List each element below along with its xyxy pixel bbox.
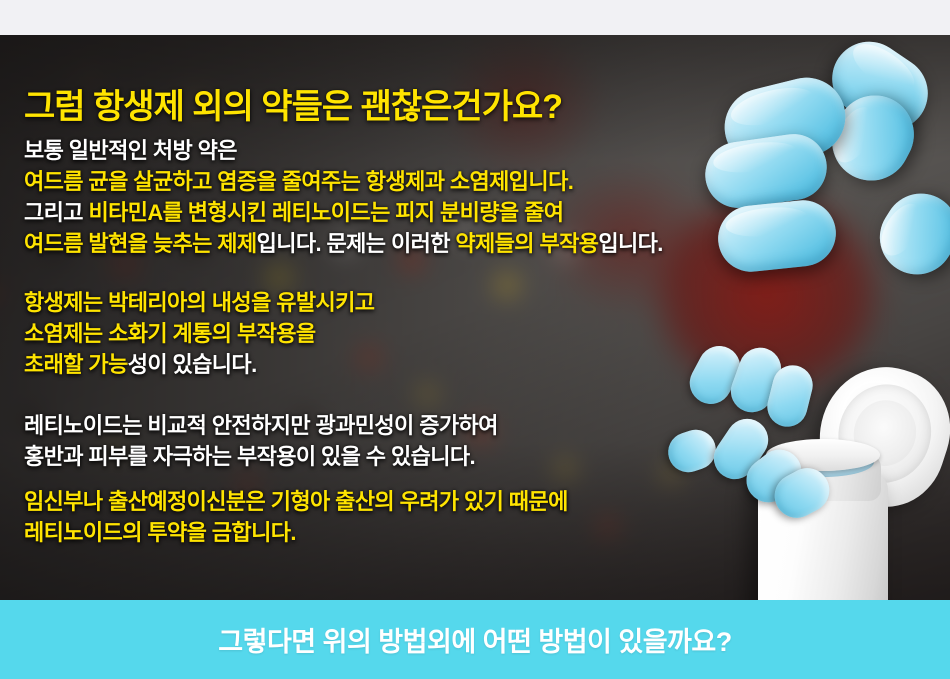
paragraph-2-line-3: 초래할 가능성이 있습니다. xyxy=(24,349,950,380)
text-segment: 입니다. 문제는 이러한 xyxy=(257,231,456,256)
paragraph-4: 임신부나 출산예정이신분은 기형아 출산의 우려가 있기 때문에 레티노이드의 … xyxy=(24,486,950,548)
spacer xyxy=(20,380,950,410)
text-segment: 그리고 xyxy=(24,200,88,225)
paragraph-4-line-2: 레티노이드의 투약을 금합니다. xyxy=(24,517,950,548)
text-segment: 성이 있습니다. xyxy=(128,352,257,377)
spacer xyxy=(20,259,950,287)
paragraph-2: 항생제는 박테리아의 내성을 유발시키고 소염제는 소화기 계통의 부작용을 초… xyxy=(24,287,950,380)
text-segment-highlight: 비타민A를 변형시킨 레티노이드는 피지 분비량을 줄여 xyxy=(88,200,563,225)
paragraph-2-line-2: 소염제는 소화기 계통의 부작용을 xyxy=(24,318,950,349)
spacer xyxy=(20,472,950,486)
text-segment-highlight: 약제들의 부작용 xyxy=(455,231,598,256)
top-light-strip xyxy=(0,0,950,35)
footer-cta-band: 그렇다면 위의 방법외에 어떤 방법이 있을까요? xyxy=(0,600,950,679)
page-title: 그럼 항생제 외의 약들은 괜찮은건가요? xyxy=(24,87,950,127)
hero-text-content: 그럼 항생제 외의 약들은 괜찮은건가요? 보통 일반적인 처방 약은 여드름 … xyxy=(0,70,950,600)
paragraph-3-line-1: 레티노이드는 비교적 안전하지만 광과민성이 증가하여 xyxy=(24,410,950,441)
paragraph-4-line-1: 임신부나 출산예정이신분은 기형아 출산의 우려가 있기 때문에 xyxy=(24,486,950,517)
paragraph-1: 보통 일반적인 처방 약은 여드름 균을 살균하고 염증을 줄여주는 항생제과 … xyxy=(24,135,950,259)
paragraph-3-line-2: 홍반과 피부를 자극하는 부작용이 있을 수 있습니다. xyxy=(24,441,950,472)
footer-cta-text: 그렇다면 위의 방법외에 어떤 방법이 있을까요? xyxy=(218,620,731,659)
paragraph-1-line-1: 보통 일반적인 처방 약은 xyxy=(24,135,950,166)
text-segment-highlight: 초래할 가능 xyxy=(24,352,128,377)
paragraph-1-line-3: 그리고 비타민A를 변형시킨 레티노이드는 피지 분비량을 줄여 xyxy=(24,197,950,228)
paragraph-2-line-1: 항생제는 박테리아의 내성을 유발시키고 xyxy=(24,287,950,318)
text-segment-highlight: 여드름 발현을 늦추는 제제 xyxy=(24,231,257,256)
paragraph-1-line-2: 여드름 균을 살균하고 염증을 줄여주는 항생제과 소염제입니다. xyxy=(24,166,950,197)
promo-banner-page: 그럼 항생제 외의 약들은 괜찮은건가요? 보통 일반적인 처방 약은 여드름 … xyxy=(0,0,950,679)
paragraph-1-line-4: 여드름 발현을 늦추는 제제입니다. 문제는 이러한 약제들의 부작용입니다. xyxy=(24,228,950,259)
hero-section: 그럼 항생제 외의 약들은 괜찮은건가요? 보통 일반적인 처방 약은 여드름 … xyxy=(0,35,950,600)
text-segment: 입니다. xyxy=(598,231,662,256)
paragraph-3: 레티노이드는 비교적 안전하지만 광과민성이 증가하여 홍반과 피부를 자극하는… xyxy=(24,410,950,472)
